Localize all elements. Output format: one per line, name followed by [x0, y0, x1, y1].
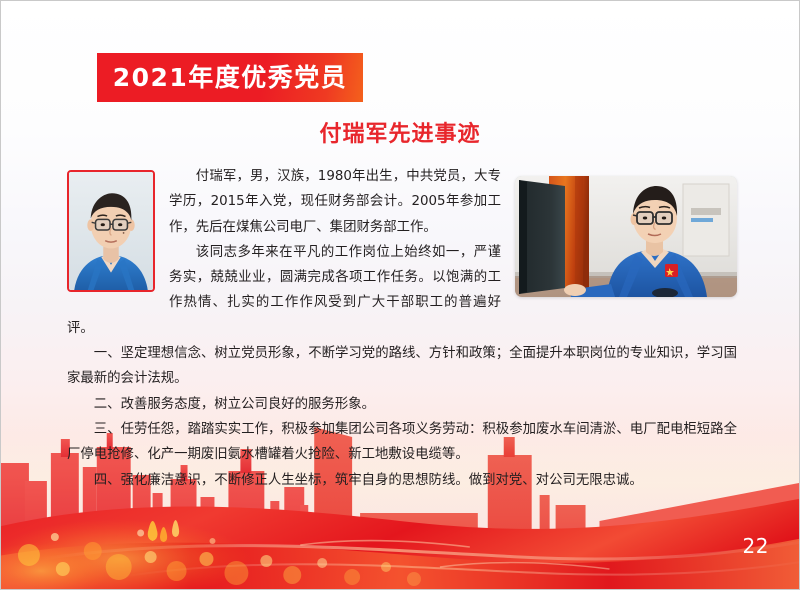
paragraph: 二、改善服务态度，树立公司良好的服务形象。 — [67, 392, 737, 417]
paragraph: 三、任劳任怨，踏踏实实工作，积极参加集团公司各项义务劳动：积极参加废水车间清淤、… — [67, 417, 737, 468]
paragraph: 一、坚定理想信念、树立党员形象，不断学习党的路线、方针和政策；全面提升本职岗位的… — [67, 341, 737, 392]
banner-title-text: 2021年度优秀党员 — [113, 65, 348, 90]
work-photo — [515, 176, 737, 297]
paragraph: 四、强化廉洁意识，不断修正人生坐标，筑牢自身的思想防线。做到对党、对公司无限忠诚… — [67, 468, 737, 493]
portrait-photo — [67, 170, 155, 292]
article-body: 付瑞军，男，汉族，1980年出生，中共党员，大专学历，2015年入党，现任财务部… — [67, 164, 737, 493]
page-title: 付瑞军先进事迹 — [1, 124, 799, 146]
page-number: 22 — [743, 536, 769, 556]
brochure-page: 2021年度优秀党员 付瑞军先进事迹 — [0, 0, 800, 590]
title-banner: 2021年度优秀党员 — [97, 53, 363, 102]
